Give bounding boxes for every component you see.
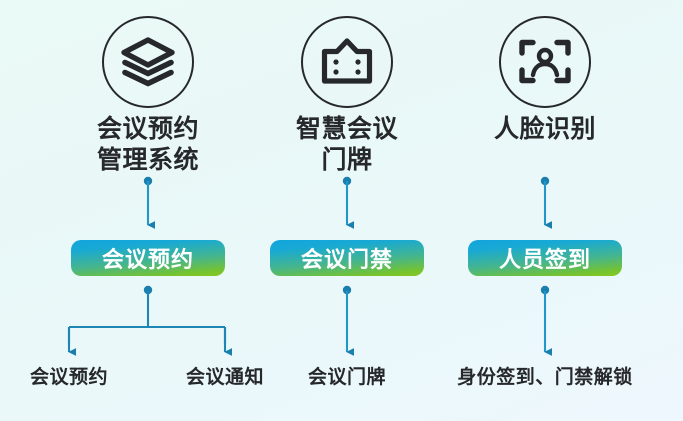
leaf-label-meeting-door-plate: 会议门牌 <box>287 362 407 389</box>
node-title-line: 管理系统 <box>48 145 248 176</box>
node-title-meeting-booking: 会议预约 管理系统 <box>48 114 248 175</box>
icon-circle-face-recognition <box>499 16 591 108</box>
node-title-smart-door-plate: 智慧会议 门牌 <box>247 114 447 175</box>
node-title-line: 人脸识别 <box>445 114 645 145</box>
pill-meeting-booking[interactable]: 会议预约 <box>71 240 225 276</box>
node-title-face-recognition: 人脸识别 <box>445 114 645 145</box>
node-title-line: 会议预约 <box>48 114 248 145</box>
pill-personnel-check-in[interactable]: 人员签到 <box>468 240 622 276</box>
node-title-line: 门牌 <box>247 145 447 176</box>
face-recognition-icon <box>518 37 572 87</box>
layers-stack-icon <box>120 37 176 87</box>
icon-circle-meeting-booking <box>102 16 194 108</box>
door-plate-sign-icon <box>320 38 374 86</box>
node-title-line: 智慧会议 <box>247 114 447 145</box>
pill-meeting-access-control[interactable]: 会议门禁 <box>270 240 424 276</box>
icon-circle-smart-door-plate <box>301 16 393 108</box>
leaf-label-meeting-notification: 会议通知 <box>165 362 285 389</box>
leaf-label-identity-checkin-door-unlock: 身份签到、门禁解锁 <box>435 362 655 389</box>
diagram-canvas: 会议预约 管理系统 会议预约 会议预约 会议通知 智慧会议 门牌 会议门禁 会议… <box>0 0 683 421</box>
leaf-label-meeting-reservation: 会议预约 <box>9 362 129 389</box>
